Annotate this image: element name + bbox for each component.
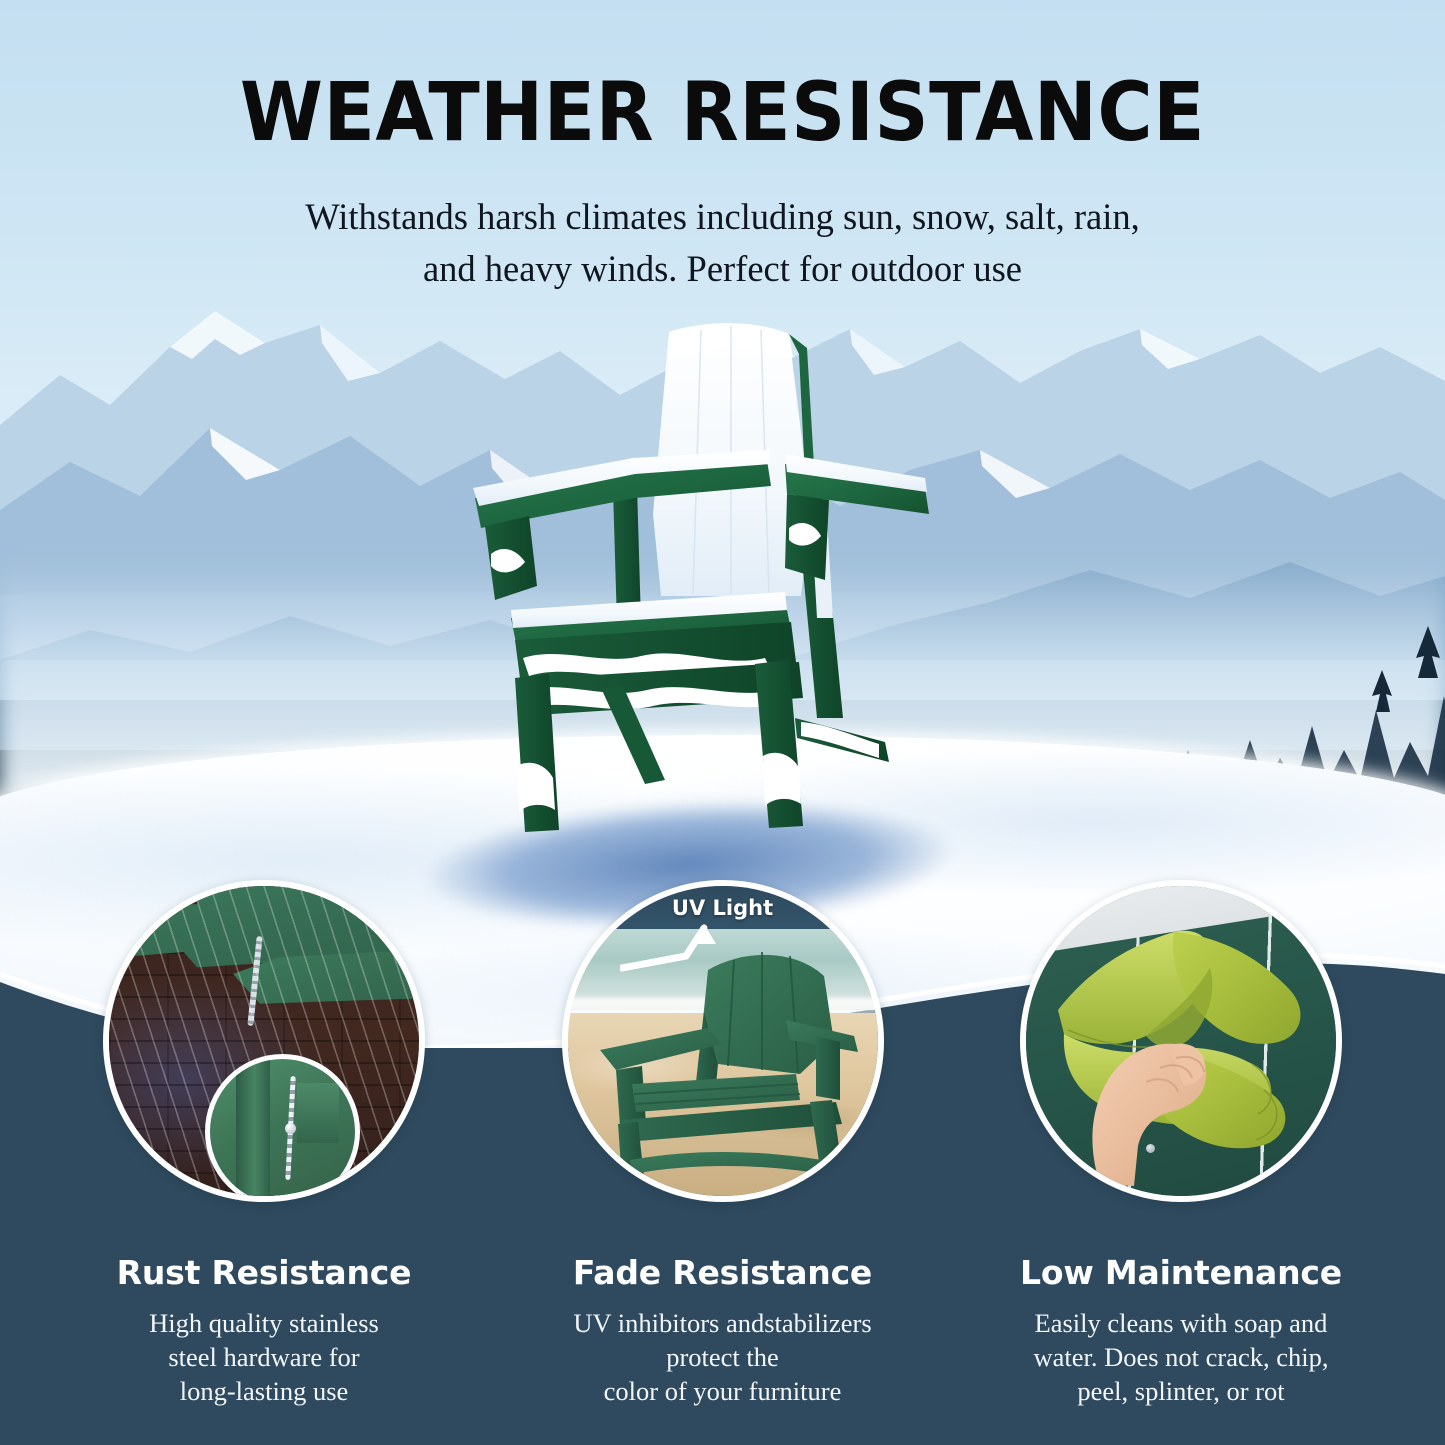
card-body-line: water. Does not crack, chip,: [1033, 1341, 1328, 1375]
infographic-canvas: Rust Resistance High quality stainless s…: [0, 0, 1445, 1445]
header-block: WEATHER RESISTANCE Withstands harsh clim…: [0, 0, 1445, 295]
feature-card-low-maintenance: Low Maintenance Easily cleans with soap …: [975, 880, 1387, 1445]
rust-resistance-image: [103, 880, 425, 1202]
card-body-line: peel, splinter, or rot: [1033, 1375, 1328, 1409]
hero-snow-covered-chair: [455, 318, 955, 848]
card-body-line: High quality stainless: [149, 1307, 379, 1341]
rust-closeup-inset: [205, 1054, 360, 1202]
feature-card-rust-resistance: Rust Resistance High quality stainless s…: [58, 880, 470, 1445]
card-title-rust-resistance: Rust Resistance: [117, 1254, 412, 1292]
card-body-line: protect the: [573, 1341, 871, 1375]
hand: [1072, 998, 1232, 1188]
page-subtitle: Withstands harsh climates including sun,…: [0, 191, 1445, 295]
card-body-line: long-lasting use: [149, 1375, 379, 1409]
uv-light-label: UV Light: [568, 896, 878, 920]
card-body-line: color of your furniture: [573, 1375, 871, 1409]
card-body-line: UV inhibitors andstabilizers: [573, 1307, 871, 1341]
page-title: WEATHER RESISTANCE: [51, 73, 1395, 154]
inset-chain-bead: [285, 1123, 296, 1134]
card-body-line: steel hardware for: [149, 1341, 379, 1375]
card-body-fade-resistance: UV inhibitors andstabilizers protect the…: [573, 1307, 871, 1409]
deck-cleaning-scene: [1026, 886, 1336, 1196]
card-body-rust-resistance: High quality stainless steel hardware fo…: [149, 1307, 379, 1409]
beach-adirondack-chair: [586, 924, 876, 1194]
card-body-low-maintenance: Easily cleans with soap and water. Does …: [1033, 1307, 1328, 1409]
inset-green-block: [297, 1083, 339, 1143]
inset-green-post: [236, 1059, 270, 1202]
fade-resistance-image: UV Light: [562, 880, 884, 1202]
feature-cards-row: Rust Resistance High quality stainless s…: [0, 880, 1445, 1445]
low-maintenance-image: [1020, 880, 1342, 1202]
card-title-fade-resistance: Fade Resistance: [573, 1254, 872, 1292]
feature-card-fade-resistance: UV Light: [517, 880, 929, 1445]
card-title-low-maintenance: Low Maintenance: [1020, 1254, 1342, 1292]
beach-scene: UV Light: [568, 886, 878, 1196]
subtitle-line: and heavy winds. Perfect for outdoor use: [0, 243, 1445, 295]
card-body-line: Easily cleans with soap and: [1033, 1307, 1328, 1341]
subtitle-line: Withstands harsh climates including sun,…: [0, 191, 1445, 243]
